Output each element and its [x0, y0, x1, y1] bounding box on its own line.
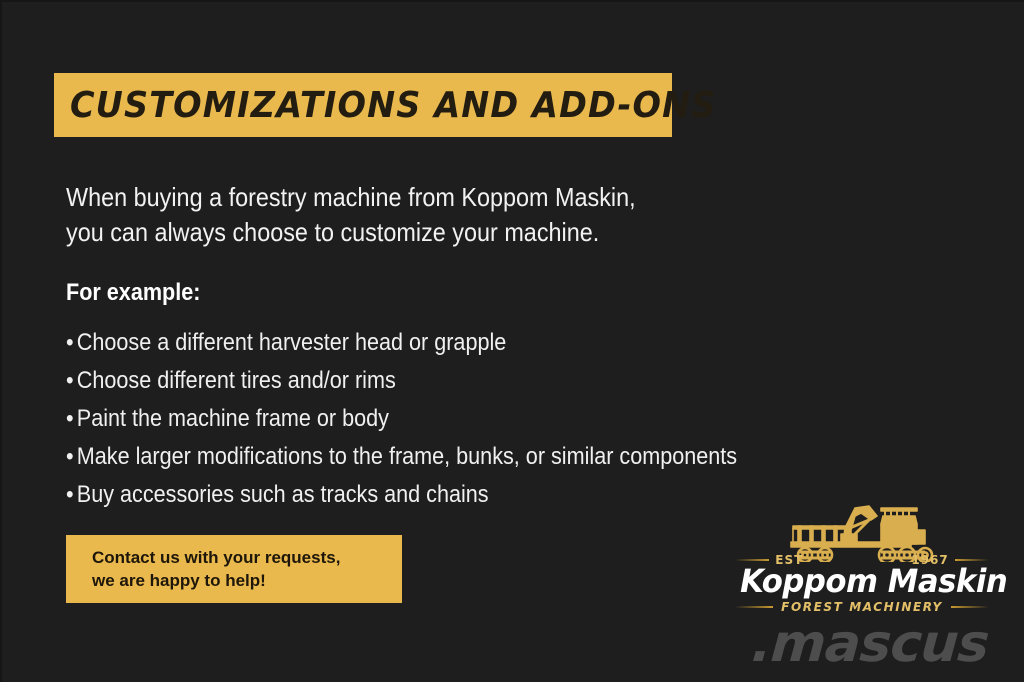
for-example-heading: For example: — [66, 279, 200, 307]
intro-line-2: you can always choose to customize your … — [66, 215, 750, 250]
bullet-marker-icon: • — [66, 400, 77, 438]
koppom-maskin-logo: EST 1967 Koppom Maskin FOREST MACHINERY — [735, 500, 989, 612]
logo-subtitle-rule-right — [951, 606, 989, 608]
intro-paragraph: When buying a forestry machine from Kopp… — [66, 180, 750, 250]
logo-rule-right — [955, 559, 989, 561]
slide-canvas: CUSTOMIZATIONS AND ADD-ONS When buying a… — [0, 0, 1024, 682]
title-banner: CUSTOMIZATIONS AND ADD-ONS — [54, 73, 672, 137]
customization-list: •Choose a different harvester head or gr… — [66, 324, 822, 514]
page-title: CUSTOMIZATIONS AND ADD-ONS — [70, 85, 716, 126]
intro-line-1: When buying a forestry machine from Kopp… — [66, 180, 750, 215]
logo-subtitle-rule-left — [735, 606, 773, 608]
list-item: •Choose different tires and/or rims — [66, 362, 822, 400]
list-item-label: Make larger modifications to the frame, … — [77, 443, 737, 470]
contact-line-1: Contact us with your requests, — [92, 546, 402, 569]
list-item: •Buy accessories such as tracks and chai… — [66, 476, 822, 514]
bullet-marker-icon: • — [66, 362, 77, 400]
list-item-label: Choose different tires and/or rims — [77, 367, 396, 394]
list-item: •Make larger modifications to the frame,… — [66, 438, 822, 476]
contact-line-2: we are happy to help! — [92, 569, 402, 592]
logo-subtitle: FOREST MACHINERY — [773, 600, 951, 614]
mascus-watermark: .mascus — [750, 614, 991, 674]
bullet-marker-icon: • — [66, 324, 77, 362]
list-item-label: Buy accessories such as tracks and chain… — [77, 481, 489, 508]
list-item: •Paint the machine frame or body — [66, 400, 822, 438]
bullet-marker-icon: • — [66, 476, 77, 514]
logo-brand-name: Koppom Maskin — [740, 562, 984, 600]
bullet-marker-icon: • — [66, 438, 77, 476]
list-item-label: Choose a different harvester head or gra… — [77, 329, 506, 356]
logo-subtitle-row: FOREST MACHINERY — [735, 600, 989, 614]
logo-rule-left — [735, 559, 769, 561]
list-item-label: Paint the machine frame or body — [77, 405, 389, 432]
contact-cta-box[interactable]: Contact us with your requests, we are ha… — [66, 535, 402, 603]
list-item: •Choose a different harvester head or gr… — [66, 324, 822, 362]
